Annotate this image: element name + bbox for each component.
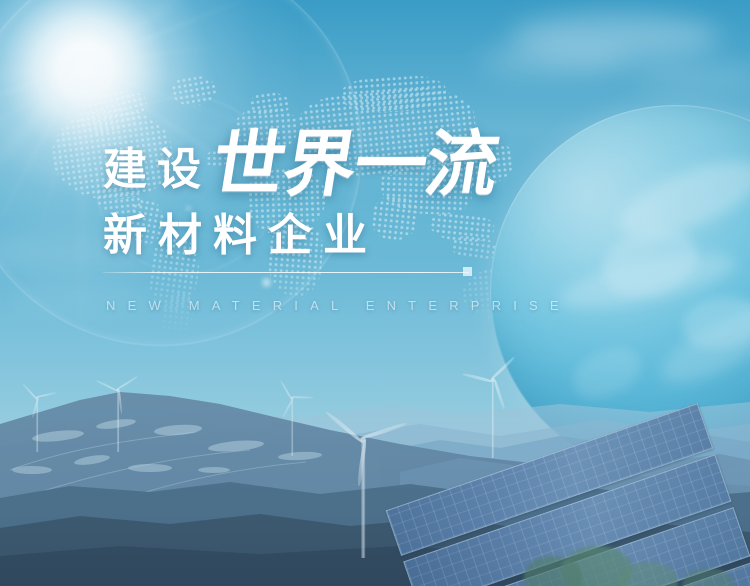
headline-lead: 建设 bbox=[103, 148, 211, 198]
lens-flare-dot bbox=[262, 278, 271, 287]
cloud-wisp bbox=[480, 46, 630, 76]
cloud-wisp bbox=[630, 64, 750, 90]
hero-banner: 建设 世界一流 新材料企业 NEW MATERIAL ENTERPRISE bbox=[0, 0, 750, 586]
wind-turbine bbox=[22, 398, 52, 452]
wind-turbine bbox=[330, 440, 396, 558]
wind-turbine bbox=[470, 380, 516, 458]
divider-end-cap bbox=[463, 267, 472, 276]
headline-line-1: 建设 世界一流 bbox=[103, 132, 503, 198]
subtitle-english: NEW MATERIAL ENTERPRISE bbox=[106, 298, 571, 313]
divider-rule bbox=[103, 272, 469, 273]
headline-emphasis: 世界一流 bbox=[208, 132, 503, 198]
wind-turbine bbox=[100, 390, 136, 452]
wind-turbine bbox=[276, 398, 308, 456]
headline-line-2: 新材料企业 bbox=[103, 214, 503, 258]
headline-block: 建设 世界一流 新材料企业 bbox=[103, 132, 503, 258]
